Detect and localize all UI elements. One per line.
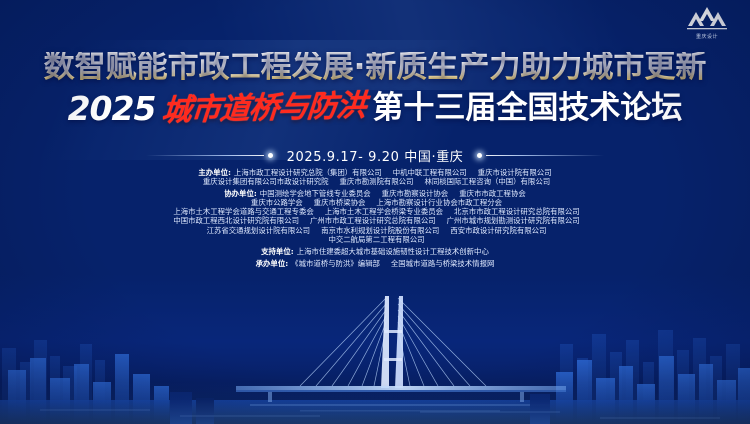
credit-row: 中交二航局第二工程有限公司 bbox=[0, 235, 750, 244]
headline-forum-edition: 第十三届全国技术论坛 bbox=[372, 93, 682, 124]
credit-organizations: 重庆设计集团有限公司市政设计研究院重庆市勘测院有限公司林同棪国际工程咨询（中国）… bbox=[203, 177, 550, 186]
credit-organization: 南京市水利规划设计院股份有限公司 bbox=[321, 226, 439, 235]
credit-row: 重庆设计集团有限公司市政设计研究院重庆市勘测院有限公司林同棪国际工程咨询（中国）… bbox=[0, 177, 750, 186]
credit-organization: 中国测绘学会地下管线专业委员会 bbox=[260, 189, 371, 198]
credit-organization: 重庆设计集团有限公司市政设计研究院 bbox=[203, 177, 329, 186]
credit-organizations: 重庆市公路学会重庆市桥梁协会上海市勘察设计行业协会市政工程分会 bbox=[251, 198, 502, 207]
credit-organization: 北京市市政工程设计研究总院有限公司 bbox=[454, 207, 580, 216]
logo-label: 重庆设计 bbox=[678, 33, 736, 40]
rule-dot-left bbox=[268, 153, 273, 158]
credit-organization: 中机中联工程有限公司 bbox=[393, 168, 467, 177]
headline-main-title: 数智赋能市政工程发展·新质生产力助力城市更新 bbox=[0, 52, 750, 83]
credit-organization: 林同棪国际工程咨询（中国）有限公司 bbox=[424, 177, 550, 186]
credit-row: 支持单位:上海市住建委超大城市基础设施韧性设计工程技术创新中心 bbox=[0, 247, 750, 256]
credit-organization: 广州市市政工程设计研究总院有限公司 bbox=[310, 216, 436, 225]
date-location-text: 2025.9.17- 9.20 中国·重庆 bbox=[277, 146, 474, 165]
credit-organization: 《城市道桥与防洪》编辑部 bbox=[291, 259, 380, 268]
credit-organization: 中国市政工程西北设计研究院有限公司 bbox=[173, 216, 299, 225]
credit-organization: 重庆市市政工程协会 bbox=[459, 189, 526, 198]
organization-logo: 重庆设计 bbox=[678, 6, 736, 50]
credit-organization: 上海市土木工程学会桥梁专业委员会 bbox=[325, 207, 443, 216]
divider-rule-left bbox=[146, 155, 264, 156]
credit-row: 主办单位:上海市政工程设计研究总院（集团）有限公司中机中联工程有限公司重庆市设计… bbox=[0, 168, 750, 177]
credit-organization: 全国城市道路与桥梁技术情报网 bbox=[391, 259, 494, 268]
credit-group-label: 承办单位: bbox=[256, 259, 289, 268]
credit-organization: 重庆市公路学会 bbox=[251, 198, 303, 207]
mountain-m-logo-icon bbox=[684, 6, 730, 32]
credit-row: 上海市土木工程学会道路与交通工程专委会上海市土木工程学会桥梁专业委员会北京市市政… bbox=[0, 207, 750, 216]
credit-group-label: 支持单位: bbox=[261, 247, 294, 256]
credit-organization: 上海市政工程设计研究总院（集团）有限公司 bbox=[234, 168, 382, 177]
credit-row: 重庆市公路学会重庆市桥梁协会上海市勘察设计行业协会市政工程分会 bbox=[0, 198, 750, 207]
credit-organization: 上海市勘察设计行业协会市政工程分会 bbox=[376, 198, 502, 207]
credit-row: 协办单位:中国测绘学会地下管线专业委员会重庆市勘察设计协会重庆市市政工程协会 bbox=[0, 189, 750, 198]
credit-group-label: 主办单位: bbox=[198, 168, 231, 177]
credit-organizations: 《城市道桥与防洪》编辑部全国城市道路与桥梁技术情报网 bbox=[291, 259, 494, 268]
credit-organization: 江苏省交通规划设计院有限公司 bbox=[207, 226, 310, 235]
credit-organization: 中交二航局第二工程有限公司 bbox=[328, 235, 424, 244]
credit-organizations: 中国市政工程西北设计研究院有限公司广州市市政工程设计研究总院有限公司广州市城市规… bbox=[173, 216, 579, 225]
credit-organization: 西安市政设计研究院有限公司 bbox=[450, 226, 546, 235]
rule-dot-right bbox=[477, 153, 482, 158]
credit-organization: 重庆市勘察设计协会 bbox=[382, 189, 449, 198]
credit-row: 承办单位:《城市道桥与防洪》编辑部全国城市道路与桥梁技术情报网 bbox=[0, 259, 750, 268]
credit-group-label: 协办单位: bbox=[224, 189, 257, 198]
credit-organization: 重庆市勘测院有限公司 bbox=[340, 177, 414, 186]
credit-organizations: 上海市政工程设计研究总院（集团）有限公司中机中联工程有限公司重庆市设计院有限公司 bbox=[234, 168, 552, 177]
poster-headline: 数智赋能市政工程发展·新质生产力助力城市更新 2025 城市道桥与防洪 第十三届… bbox=[0, 52, 750, 125]
credit-organization: 广州市城市规划勘测设计研究院有限公司 bbox=[447, 216, 580, 225]
date-location-bar: 2025.9.17- 9.20 中国·重庆 bbox=[0, 146, 750, 165]
credit-organization: 上海市土木工程学会道路与交通工程专委会 bbox=[173, 207, 313, 216]
credit-organizations: 中交二航局第二工程有限公司 bbox=[328, 235, 424, 244]
credit-organizations: 江苏省交通规划设计院有限公司南京市水利规划设计院股份有限公司西安市政设计研究院有… bbox=[207, 226, 547, 235]
conference-poster: 重庆设计 数智赋能市政工程发展·新质生产力助力城市更新 2025 城市道桥与防洪… bbox=[0, 0, 750, 424]
divider-rule-right bbox=[486, 155, 604, 156]
credit-organization: 上海市住建委超大城市基础设施韧性设计工程技术创新中心 bbox=[297, 247, 489, 256]
headline-journal-name: 城市道桥与防洪 bbox=[161, 91, 367, 126]
credit-organizations: 中国测绘学会地下管线专业委员会重庆市勘察设计协会重庆市市政工程协会 bbox=[260, 189, 526, 198]
headline-year: 2025 bbox=[68, 92, 156, 125]
credit-row: 江苏省交通规划设计院有限公司南京市水利规划设计院股份有限公司西安市政设计研究院有… bbox=[0, 226, 750, 235]
credit-organization: 重庆市设计院有限公司 bbox=[478, 168, 552, 177]
credit-organization: 重庆市桥梁协会 bbox=[314, 198, 366, 207]
organizer-credits-block: 主办单位:上海市政工程设计研究总院（集团）有限公司中机中联工程有限公司重庆市设计… bbox=[0, 168, 750, 268]
credit-organizations: 上海市土木工程学会道路与交通工程专委会上海市土木工程学会桥梁专业委员会北京市市政… bbox=[173, 207, 579, 216]
credit-organizations: 上海市住建委超大城市基础设施韧性设计工程技术创新中心 bbox=[297, 247, 489, 256]
headline-subtitle-row: 2025 城市道桥与防洪 第十三届全国技术论坛 bbox=[0, 92, 750, 125]
credit-row: 中国市政工程西北设计研究院有限公司广州市市政工程设计研究总院有限公司广州市城市规… bbox=[0, 216, 750, 225]
